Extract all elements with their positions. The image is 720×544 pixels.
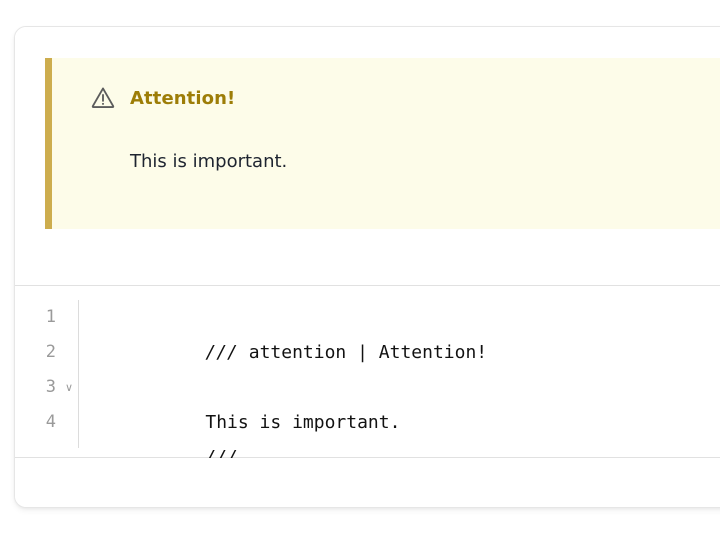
card-footer [15,458,720,507]
line-number: 1 [46,307,56,327]
line-number-row: 2 [15,335,78,370]
line-number-row: 1 [15,300,78,335]
chevron-down-icon[interactable]: ∨ [65,370,73,405]
admonition-title-row: Attention! [90,85,235,111]
line-number: 4 [46,412,56,432]
admonition-attention: Attention! This is important. [45,58,720,229]
admonition-body-text: This is important. [130,151,287,172]
markdown-admonition-preview-card: Attention! This is important. 1 2 3 ∨ 4 [14,26,720,508]
code-text-token: attention | Attention! [238,342,487,363]
preview-pane: Attention! This is important. [15,27,720,286]
line-number: 2 [46,342,56,362]
code-lines[interactable]: /// attention | Attention! This is impor… [97,300,720,440]
line-number-row: 4 [15,405,78,440]
code-text-token: This is important. [205,412,400,433]
line-number-row: 3 ∨ [15,370,78,405]
code-editor-pane[interactable]: 1 2 3 ∨ 4 /// attention | Attention! [15,286,720,458]
warning-triangle-icon [90,85,116,111]
line-number: 3 [46,377,56,397]
code-line[interactable]: /// attention | Attention! [97,300,720,335]
line-number-gutter: 1 2 3 ∨ 4 [15,300,79,448]
admonition-title: Attention! [130,88,235,109]
code-area[interactable]: 1 2 3 ∨ 4 /// attention | Attention! [15,286,720,457]
code-fence-token: /// [205,342,238,363]
